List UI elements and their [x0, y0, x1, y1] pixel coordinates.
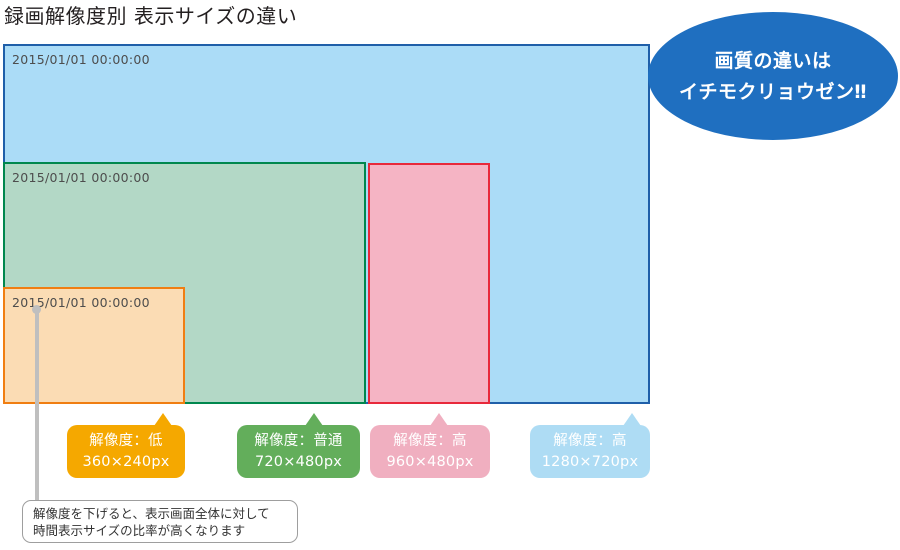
resolution-rect-960x480: [368, 163, 490, 404]
resolution-rect-360x240: 2015/01/01 00:00:00: [3, 287, 185, 404]
legend-quality-720x480: 解像度：普通: [254, 432, 342, 451]
legend-quality-360x240: 解像度：低: [89, 432, 163, 451]
callout-ellipse: 画質の違いは イチモクリョウゼン‼: [648, 12, 898, 140]
pointer-triangle-icon: [305, 413, 323, 426]
callout-line-1: 画質の違いは: [714, 50, 831, 72]
legend-pill-1280x720: 解像度：高 1280×720px: [530, 425, 650, 478]
pointer-triangle-icon: [430, 413, 448, 426]
legend-quality-1280x720: 解像度：高: [553, 432, 627, 451]
timestamp-label-720x480: 2015/01/01 00:00:00: [12, 170, 150, 186]
pointer-triangle-icon: [623, 413, 641, 426]
pin-leader-line: [35, 309, 39, 501]
legend-resolution-960x480: 960×480px: [386, 453, 473, 472]
note-line-1: 解像度を下げると、表示画面全体に対して: [33, 505, 287, 522]
legend-pill-360x240: 解像度：低 360×240px: [67, 425, 185, 478]
legend-resolution-720x480: 720×480px: [255, 453, 342, 472]
legend-resolution-360x240: 360×240px: [82, 453, 169, 472]
note-box: 解像度を下げると、表示画面全体に対して 時間表示サイズの比率が高くなります: [22, 500, 298, 543]
note-line-2: 時間表示サイズの比率が高くなります: [33, 522, 287, 539]
callout-line-2: イチモクリョウゼン‼: [679, 81, 867, 103]
legend-resolution-1280x720: 1280×720px: [542, 453, 639, 472]
timestamp-label-1280x720: 2015/01/01 00:00:00: [12, 52, 150, 68]
legend-pill-960x480: 解像度：高 960×480px: [370, 425, 490, 478]
legend-pill-720x480: 解像度：普通 720×480px: [237, 425, 360, 478]
legend-quality-960x480: 解像度：高: [393, 432, 467, 451]
pointer-triangle-icon: [154, 413, 172, 426]
page-title: 録画解像度別 表示サイズの違い: [4, 2, 297, 30]
